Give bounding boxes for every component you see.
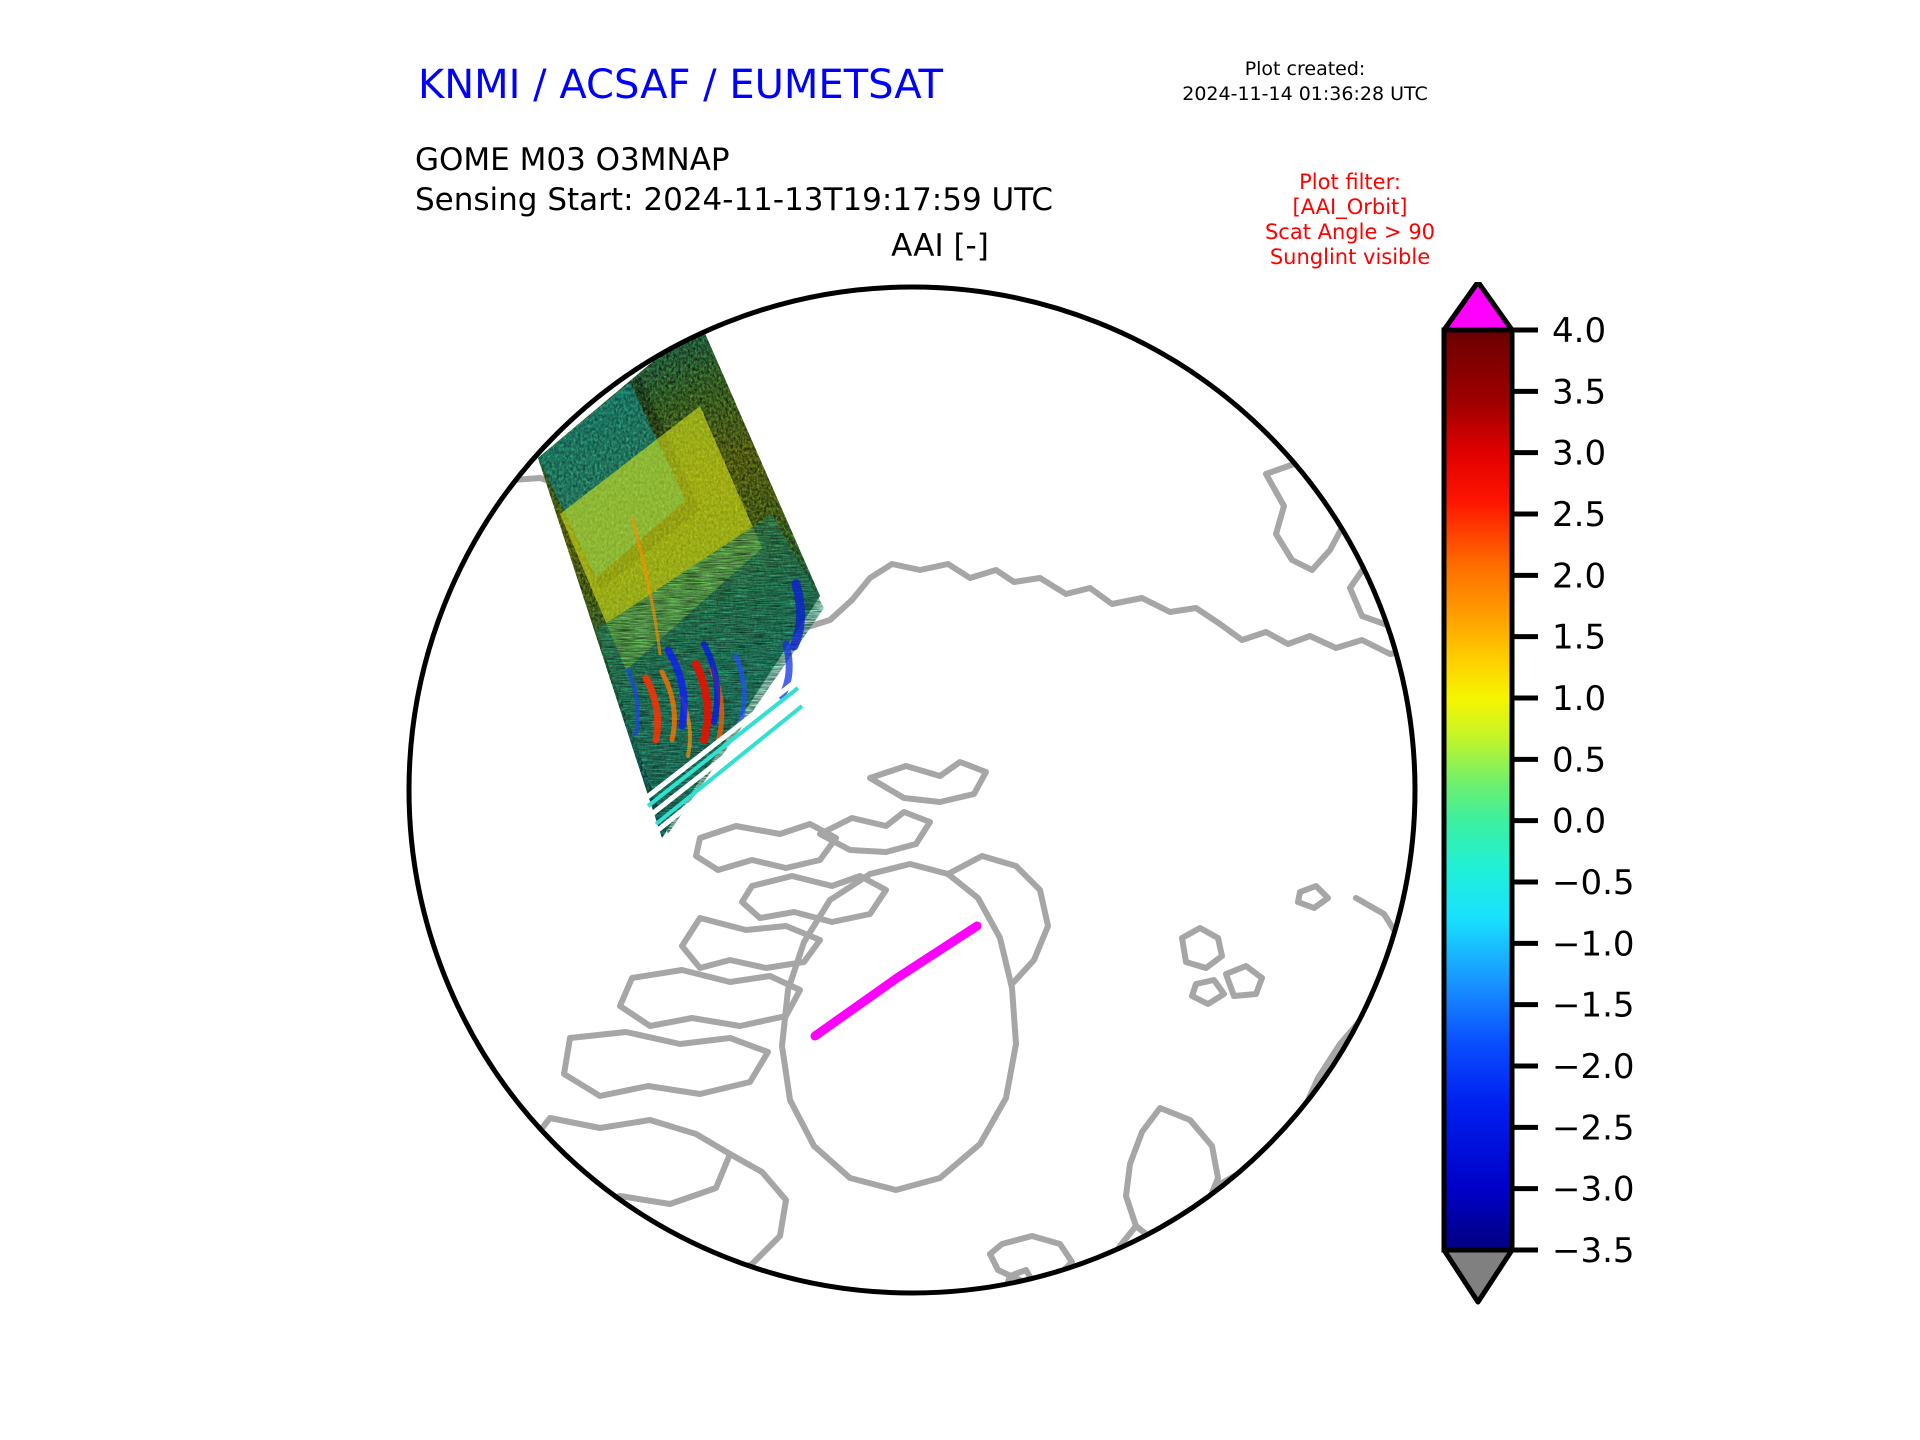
- sensing-start: Sensing Start: 2024-11-13T19:17:59 UTC: [415, 180, 1053, 220]
- page-title-organisations: KNMI / ACSAF / EUMETSAT: [418, 62, 943, 108]
- colorbar-tick-label: −3.0: [1552, 1170, 1635, 1210]
- colorbar-tick-label: 0.0: [1552, 802, 1606, 842]
- colorbar-panel: 4.03.53.02.52.01.51.00.50.0−0.5−1.0−1.5−…: [1430, 282, 1750, 1322]
- colorbar-tick-label: 1.0: [1552, 679, 1606, 719]
- product-info-block: GOME M03 O3MNAP Sensing Start: 2024-11-1…: [415, 140, 1053, 220]
- plot-filter-note: Sunglint visible: [1220, 245, 1480, 270]
- colorbar-ticks: 4.03.53.02.52.01.51.00.50.0−0.5−1.0−1.5−…: [1512, 311, 1635, 1271]
- colorbar-tick-label: −1.5: [1552, 986, 1635, 1026]
- plot-filter-condition: Scat Angle > 90: [1220, 220, 1480, 245]
- colorbar-over-arrow: [1444, 282, 1512, 330]
- colorbar-tick-label: −3.5: [1552, 1231, 1635, 1271]
- product-name: GOME M03 O3MNAP: [415, 140, 1053, 180]
- plot-filter-name: [AAI_Orbit]: [1220, 195, 1480, 220]
- colorbar-tick-label: −2.0: [1552, 1047, 1635, 1087]
- colorbar-tick-label: −0.5: [1552, 863, 1635, 903]
- colorbar-tick-label: −2.5: [1552, 1108, 1635, 1148]
- colorbar-tick-label: −1.0: [1552, 924, 1635, 964]
- colorbar-tick-label: 0.5: [1552, 740, 1606, 780]
- colorbar-tick-label: 3.5: [1552, 372, 1606, 412]
- plot-filter-block: Plot filter: [AAI_Orbit] Scat Angle > 90…: [1220, 170, 1480, 270]
- colorbar-tick-label: 3.0: [1552, 434, 1606, 474]
- map-panel: [400, 278, 1430, 1308]
- map-background: [409, 287, 1415, 1293]
- colorbar-under-arrow: [1444, 1250, 1512, 1302]
- colorbar-tick-label: 1.5: [1552, 618, 1606, 658]
- plot-created-value: 2024-11-14 01:36:28 UTC: [1160, 82, 1450, 107]
- colorbar-tick-label: 2.5: [1552, 495, 1606, 535]
- plot-filter-label: Plot filter:: [1220, 170, 1480, 195]
- quantity-title: AAI [-]: [760, 228, 1120, 264]
- plot-created-block: Plot created: 2024-11-14 01:36:28 UTC: [1160, 57, 1450, 107]
- colorbar-tick-label: 4.0: [1552, 311, 1606, 351]
- colorbar-tick-label: 2.0: [1552, 556, 1606, 596]
- plot-created-label: Plot created:: [1160, 57, 1450, 82]
- colorbar-gradient: [1444, 330, 1512, 1250]
